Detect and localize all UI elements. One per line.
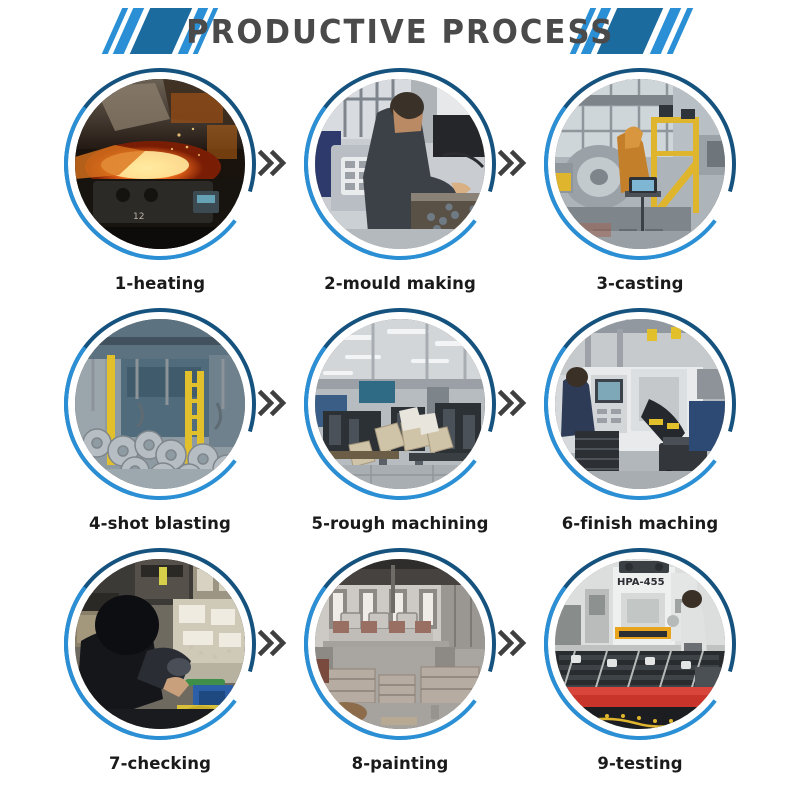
circle-ring-inner-5 bbox=[292, 296, 509, 513]
double-chevron-right-icon bbox=[495, 146, 529, 180]
process-step-2[interactable]: 2-mould making bbox=[280, 68, 520, 293]
process-step-3[interactable]: 3-casting bbox=[520, 68, 760, 293]
circle-frame-8 bbox=[304, 548, 496, 740]
double-chevron-right-icon bbox=[495, 386, 529, 420]
process-row-3: 7-checking bbox=[0, 548, 800, 788]
double-chevron-right-icon bbox=[495, 626, 529, 660]
double-chevron-right-icon bbox=[255, 146, 289, 180]
circle-frame-3 bbox=[544, 68, 736, 260]
circle-frame-6 bbox=[544, 308, 736, 500]
circle-frame-7 bbox=[64, 548, 256, 740]
process-step-6[interactable]: 6-finish maching bbox=[520, 308, 760, 533]
process-step-1[interactable]: 12 1-heating bbox=[40, 68, 280, 293]
page-title: PRODUCTIVE PROCESS bbox=[171, 12, 629, 51]
circle-frame-2 bbox=[304, 68, 496, 260]
circle-ring-inner-1 bbox=[52, 56, 269, 273]
circle-ring-inner-8 bbox=[292, 536, 509, 753]
process-step-8[interactable]: 8-painting bbox=[280, 548, 520, 773]
process-row-1: 12 1-heating bbox=[0, 68, 800, 308]
process-grid: 12 1-heating bbox=[0, 62, 800, 788]
circle-ring-inner-6 bbox=[532, 296, 749, 513]
circle-ring-inner-4 bbox=[52, 296, 269, 513]
circle-frame-5 bbox=[304, 308, 496, 500]
step-caption-9: 9-testing bbox=[597, 754, 682, 773]
circle-ring-inner-9 bbox=[532, 536, 749, 753]
step-caption-5: 5-rough machining bbox=[311, 514, 488, 533]
double-chevron-right-icon bbox=[255, 386, 289, 420]
process-step-4[interactable]: 4-shot blasting bbox=[40, 308, 280, 533]
step-caption-3: 3-casting bbox=[596, 274, 683, 293]
process-step-9[interactable]: HPA-455 bbox=[520, 548, 760, 773]
circle-frame-1: 12 bbox=[64, 68, 256, 260]
step-caption-7: 7-checking bbox=[109, 754, 211, 773]
step-caption-1: 1-heating bbox=[115, 274, 205, 293]
circle-ring-inner-7 bbox=[52, 536, 269, 753]
circle-ring-inner-2 bbox=[292, 56, 509, 273]
step-caption-4: 4-shot blasting bbox=[89, 514, 231, 533]
step-caption-6: 6-finish maching bbox=[562, 514, 719, 533]
process-row-2: 4-shot blasting bbox=[0, 308, 800, 548]
step-caption-8: 8-painting bbox=[352, 754, 449, 773]
process-step-7[interactable]: 7-checking bbox=[40, 548, 280, 773]
step-caption-2: 2-mould making bbox=[324, 274, 476, 293]
circle-frame-4 bbox=[64, 308, 256, 500]
circle-ring-inner-3 bbox=[532, 56, 749, 273]
circle-frame-9: HPA-455 bbox=[544, 548, 736, 740]
process-step-5[interactable]: 5-rough machining bbox=[280, 308, 520, 533]
double-chevron-right-icon bbox=[255, 626, 289, 660]
page-header: PRODUCTIVE PROCESS bbox=[0, 0, 800, 62]
